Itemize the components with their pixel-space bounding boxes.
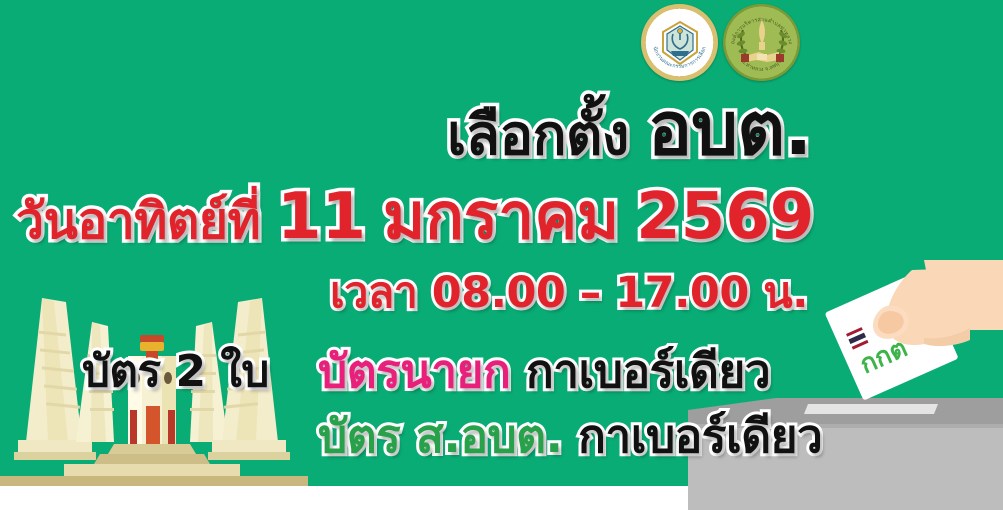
ballot-mayor-name: บัตรนายก (318, 344, 510, 398)
ballot-row-member: บัตร ส.อบต. กาเบอร์เดียว (318, 413, 822, 459)
date-year: 2569 (636, 180, 814, 254)
ballot-member-name: บัตร ส.อบต. (318, 409, 563, 463)
date-weekday-prefix: วันอาทิตย์ที่ (16, 192, 260, 250)
ballot-mayor-instruction: กาเบอร์เดียว (526, 344, 770, 398)
emblem-group: สำนักงานคณะกรรมการการเลือกตั้ง องค์การบร… (641, 4, 821, 82)
election-date: วันอาทิตย์ที่ 11 มกราคม 2569 (16, 185, 814, 249)
page-title: เลือกตั้ง อบต. (447, 92, 811, 166)
election-poster: กกต สำนักงานคณะกรรมการการเลือกตั้ง (0, 0, 1003, 510)
date-day: 11 (277, 180, 366, 254)
ballot-row-mayor: บัตรนายก กาเบอร์เดียว (318, 348, 770, 394)
headline-prefix: เลือกตั้ง (447, 103, 629, 168)
ballot-member-instruction: กาเบอร์เดียว (578, 409, 822, 463)
election-commission-seal-icon: สำนักงานคณะกรรมการการเลือกตั้ง (641, 4, 718, 81)
ballot-count-label: บัตร 2 ใบ (82, 350, 269, 394)
sao-seal-icon: องค์การบริหารส่วนตำบลท่าหลวง อ.ท่าหลวง จ… (723, 4, 800, 81)
date-month: มกราคม (383, 180, 619, 254)
election-hours: เวลา 08.00 – 17.00 น. (330, 272, 808, 315)
hand-dropping-ballot-illustration: กกต (820, 252, 1003, 412)
headline-main: อบต. (648, 86, 812, 172)
